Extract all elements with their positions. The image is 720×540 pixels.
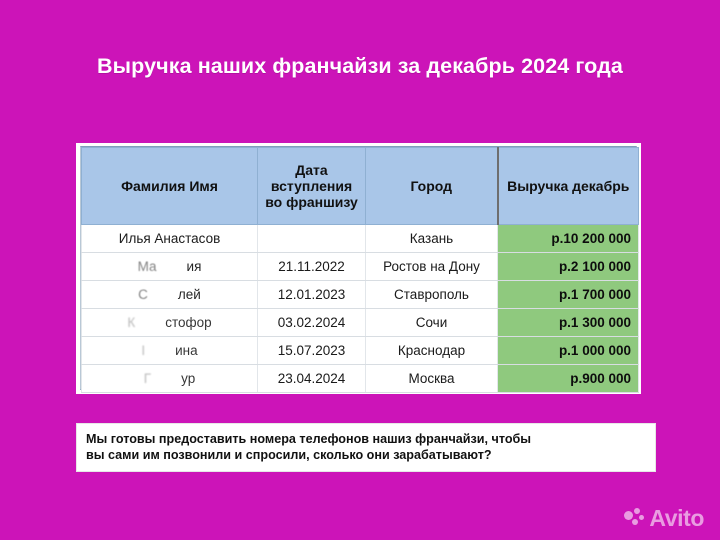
table-row: Ма ия21.11.2022Ростов на Донур.2 100 000 (82, 253, 639, 281)
avito-dots-icon (624, 508, 645, 529)
redacted-name: Ма ия (138, 259, 202, 274)
name-redaction-gap (135, 315, 165, 330)
caption-line-2: вы сами им позвонили и спросили, сколько… (86, 447, 646, 463)
cell-date: 15.07.2023 (258, 337, 366, 365)
cell-revenue: р.10 200 000 (498, 225, 639, 253)
table-row: К стофор03.02.2024Сочир.1 300 000 (82, 309, 639, 337)
name-fragment-prefix: І (141, 343, 145, 358)
cell-date: 03.02.2024 (258, 309, 366, 337)
cell-name: Ма ия (82, 253, 258, 281)
cell-city: Москва (366, 365, 498, 393)
cell-name: Г ур (82, 365, 258, 393)
name-redaction-gap (151, 371, 181, 386)
table-row: І ина15.07.2023Краснодарр.1 000 000 (82, 337, 639, 365)
cell-city: Казань (366, 225, 498, 253)
name-redaction-gap (145, 343, 175, 358)
revenue-table-frame: Фамилия Имя Дата вступления во франшизу … (76, 143, 641, 394)
name-fragment-prefix: С (138, 287, 148, 302)
caption-line-1: Мы готовы предоставить номера телефонов … (86, 431, 646, 447)
cell-city: Сочи (366, 309, 498, 337)
cell-name: І ина (82, 337, 258, 365)
table-body: Илья АнастасовКазаньр.10 200 000Ма ия21.… (82, 225, 639, 393)
column-header-city: Город (366, 148, 498, 225)
name-fragment-prefix: К (127, 315, 135, 330)
table-row: С лей12.01.2023Ставропольр.1 700 000 (82, 281, 639, 309)
name-fragment-prefix: Ма (138, 259, 157, 274)
cell-city: Ставрополь (366, 281, 498, 309)
cell-revenue: р.1 000 000 (498, 337, 639, 365)
cell-revenue: р.2 100 000 (498, 253, 639, 281)
caption-box: Мы готовы предоставить номера телефонов … (76, 423, 656, 472)
avito-watermark: Avito (624, 507, 704, 530)
revenue-table: Фамилия Имя Дата вступления во франшизу … (81, 147, 639, 393)
table-row: Г ур23.04.2024Москвар.900 000 (82, 365, 639, 393)
redacted-name: К стофор (127, 315, 211, 330)
cell-revenue: р.1 700 000 (498, 281, 639, 309)
column-header-revenue: Выручка декабрь (498, 148, 639, 225)
name-fragment-suffix: ия (187, 259, 202, 274)
name-fragment-suffix: ина (175, 343, 198, 358)
name-redaction-gap (157, 259, 187, 274)
cell-date: 23.04.2024 (258, 365, 366, 393)
cell-city: Краснодар (366, 337, 498, 365)
cell-date: 12.01.2023 (258, 281, 366, 309)
table-row: Илья АнастасовКазаньр.10 200 000 (82, 225, 639, 253)
name-fragment-suffix: ур (181, 371, 195, 386)
cell-date: 21.11.2022 (258, 253, 366, 281)
name-text: Илья Анастасов (119, 231, 221, 246)
page-title: Выручка наших франчайзи за декабрь 2024 … (0, 54, 720, 79)
cell-name: С лей (82, 281, 258, 309)
cell-date (258, 225, 366, 253)
cell-name: К стофор (82, 309, 258, 337)
name-fragment-suffix: лей (178, 287, 201, 302)
slide-canvas: Выручка наших франчайзи за декабрь 2024 … (0, 0, 720, 540)
cell-revenue: р.1 300 000 (498, 309, 639, 337)
column-header-name: Фамилия Имя (82, 148, 258, 225)
cell-name: Илья Анастасов (82, 225, 258, 253)
avito-wordmark: Avito (649, 507, 704, 530)
redacted-name: Г ур (144, 371, 195, 386)
revenue-table-inner: Фамилия Имя Дата вступления во франшизу … (80, 146, 637, 390)
redacted-name: С лей (138, 287, 201, 302)
name-fragment-suffix: стофор (165, 315, 211, 330)
column-header-date: Дата вступления во франшизу (258, 148, 366, 225)
name-redaction-gap (148, 287, 178, 302)
redacted-name: І ина (141, 343, 197, 358)
table-header-row: Фамилия Имя Дата вступления во франшизу … (82, 148, 639, 225)
name-fragment-prefix: Г (144, 371, 151, 386)
cell-city: Ростов на Дону (366, 253, 498, 281)
cell-revenue: р.900 000 (498, 365, 639, 393)
